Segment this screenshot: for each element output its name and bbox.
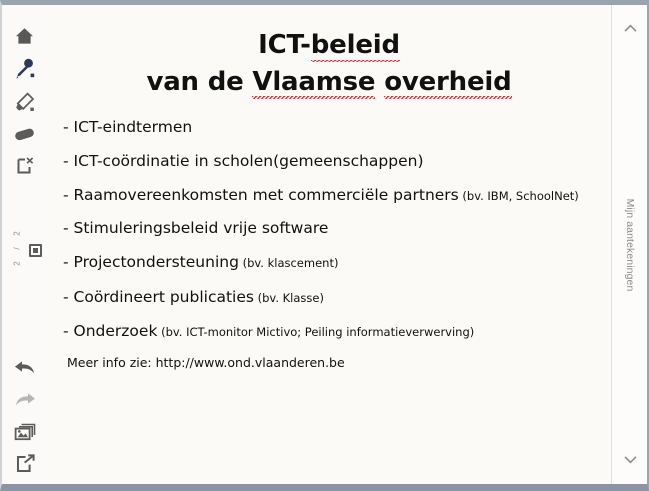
bullet-main: - Projectondersteuning (63, 253, 239, 271)
undo-icon[interactable] (2, 353, 47, 383)
slide-body: - ICT-eindtermen - ICT-coördinatie in sc… (47, 101, 611, 370)
bullet-main: - Coördineert publicaties (63, 288, 254, 306)
title-line-1-misspelled: beleid (311, 30, 400, 62)
bullet-item: - Raamovereenkomsten met commerciële par… (63, 185, 603, 205)
pen-icon[interactable] (2, 53, 47, 83)
bullet-note: (bv. klascement) (239, 256, 339, 270)
bullet-note: (bv. IBM, SchoolNet) (459, 189, 579, 203)
bullet-item: - Stimuleringsbeleid vrije software (63, 218, 603, 238)
slide-footer-link: Meer info zie: http://www.ond.vlaanderen… (63, 355, 611, 370)
title-line-2-plain-1: van de (146, 67, 252, 97)
page-indicator: 2 / 2 (2, 227, 47, 275)
bullet-main: - Raamovereenkomsten met commerciële par… (63, 186, 459, 204)
page-separator: / (13, 242, 22, 256)
bullet-item: - Onderzoek (bv. ICT-monitor Mictivo; Pe… (63, 321, 603, 341)
eraser-icon[interactable] (2, 119, 47, 149)
title-line-1: ICT-beleid (47, 27, 611, 64)
home-icon[interactable] (2, 21, 47, 51)
title-line-1-plain: ICT- (258, 30, 311, 60)
gallery-icon[interactable] (2, 417, 47, 447)
page-thumbnail-button[interactable] (29, 244, 42, 257)
bullet-main: - ICT-coördinatie in scholen(gemeenschap… (63, 152, 424, 170)
bullet-item: - ICT-eindtermen (63, 117, 603, 137)
title-line-2: van de Vlaamse overheid (47, 64, 611, 101)
bullet-main: - Stimuleringsbeleid vrije software (63, 219, 328, 237)
slide-title: ICT-beleid van de Vlaamse overheid (47, 5, 611, 101)
bullet-main: - ICT-eindtermen (63, 118, 192, 136)
chevron-up-icon[interactable] (612, 17, 648, 39)
highlighter-icon[interactable] (2, 87, 47, 117)
bullet-main: - Onderzoek (63, 322, 157, 340)
bullet-item: - ICT-coördinatie in scholen(gemeenschap… (63, 151, 603, 171)
clear-page-icon[interactable] (2, 151, 47, 181)
title-line-2-plain-2 (375, 67, 384, 97)
slide-canvas[interactable]: ICT-beleid van de Vlaamse overheid - ICT… (47, 5, 611, 484)
bullet-item: - Projectondersteuning (bv. klascement) (63, 252, 603, 272)
page-total: 2 (13, 257, 22, 271)
bullet-note: (bv. ICT-monitor Mictivo; Peiling inform… (157, 325, 474, 339)
left-toolbar: 2 / 2 (2, 5, 47, 484)
filmstrip-icon[interactable] (2, 481, 47, 491)
redo-icon[interactable] (2, 385, 47, 415)
presentation-window: 2 / 2 (0, 0, 649, 491)
page-current: 2 (13, 227, 22, 241)
share-icon[interactable] (2, 449, 47, 479)
title-line-2-misspelled-1: Vlaamse (252, 67, 375, 99)
notes-panel-label[interactable]: Mijn aantekeningen (624, 198, 636, 291)
bullet-item: - Coördineert publicaties (bv. Klasse) (63, 287, 603, 307)
notes-panel: Mijn aantekeningen (611, 5, 647, 484)
chevron-down-icon[interactable] (612, 448, 648, 470)
bullet-note: (bv. Klasse) (254, 291, 324, 305)
title-line-2-misspelled-2: overheid (384, 67, 511, 99)
